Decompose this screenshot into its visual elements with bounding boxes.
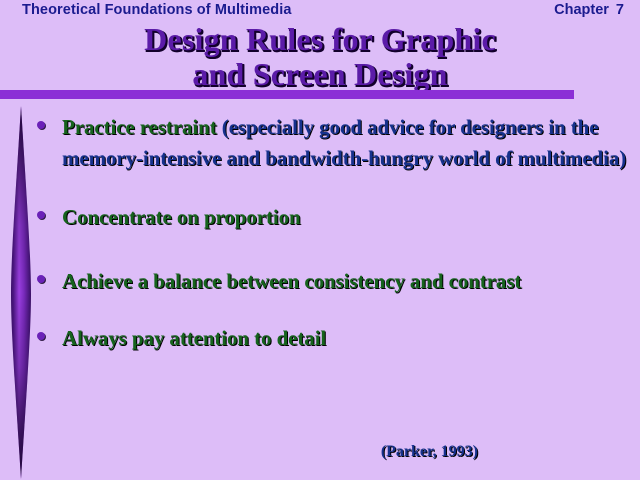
- slide-canvas: Theoretical Foundations of Multimedia Ch…: [0, 0, 640, 480]
- list-spacer: [33, 173, 633, 202]
- header-course-title: Theoretical Foundations of Multimedia: [22, 2, 292, 18]
- bullet-dot-icon: [37, 121, 45, 129]
- list-item: Always pay attention to detail: [33, 323, 633, 354]
- bullet-dot-icon: [37, 211, 45, 219]
- bullet-dot-icon: [37, 275, 45, 283]
- list-item-segment-green: Practice restraint: [62, 115, 222, 139]
- list-item-text: Achieve a balance between consistency an…: [62, 266, 633, 297]
- list-item: Achieve a balance between consistency an…: [33, 266, 633, 297]
- list-spacer: [33, 296, 633, 323]
- bullet-list: Practice restraint (especially good advi…: [33, 112, 633, 354]
- vertical-lens-bar-icon: [9, 106, 33, 479]
- citation-text: (Parker, 1993): [0, 443, 640, 461]
- header-chapter-number: 7: [616, 2, 624, 18]
- vertical-lens-bar-ornament: [9, 106, 33, 479]
- header-chapter-word: Chapter: [554, 2, 609, 18]
- page-title-line-2: and Screen Design: [0, 57, 640, 92]
- list-item-text: Concentrate on proportion: [62, 202, 633, 233]
- header-chapter-label: Chapter7: [554, 2, 624, 18]
- page-title: Design Rules for Graphic and Screen Desi…: [0, 22, 640, 92]
- slide-header: Theoretical Foundations of Multimedia Ch…: [0, 2, 640, 22]
- title-divider-bar: [0, 90, 574, 99]
- list-item-text: Always pay attention to detail: [62, 323, 633, 354]
- list-spacer: [33, 233, 633, 266]
- list-item: Practice restraint (especially good advi…: [33, 112, 633, 173]
- list-item: Concentrate on proportion: [33, 202, 633, 233]
- page-title-line-1: Design Rules for Graphic: [0, 22, 640, 57]
- list-item-text: Practice restraint (especially good advi…: [62, 112, 633, 173]
- list-item-segment-green: Always pay attention to detail: [62, 326, 326, 350]
- list-item-segment-green: Concentrate on proportion: [62, 205, 301, 229]
- bullet-dot-icon: [37, 332, 45, 340]
- list-item-segment-green: Achieve a balance between consistency an…: [62, 269, 521, 293]
